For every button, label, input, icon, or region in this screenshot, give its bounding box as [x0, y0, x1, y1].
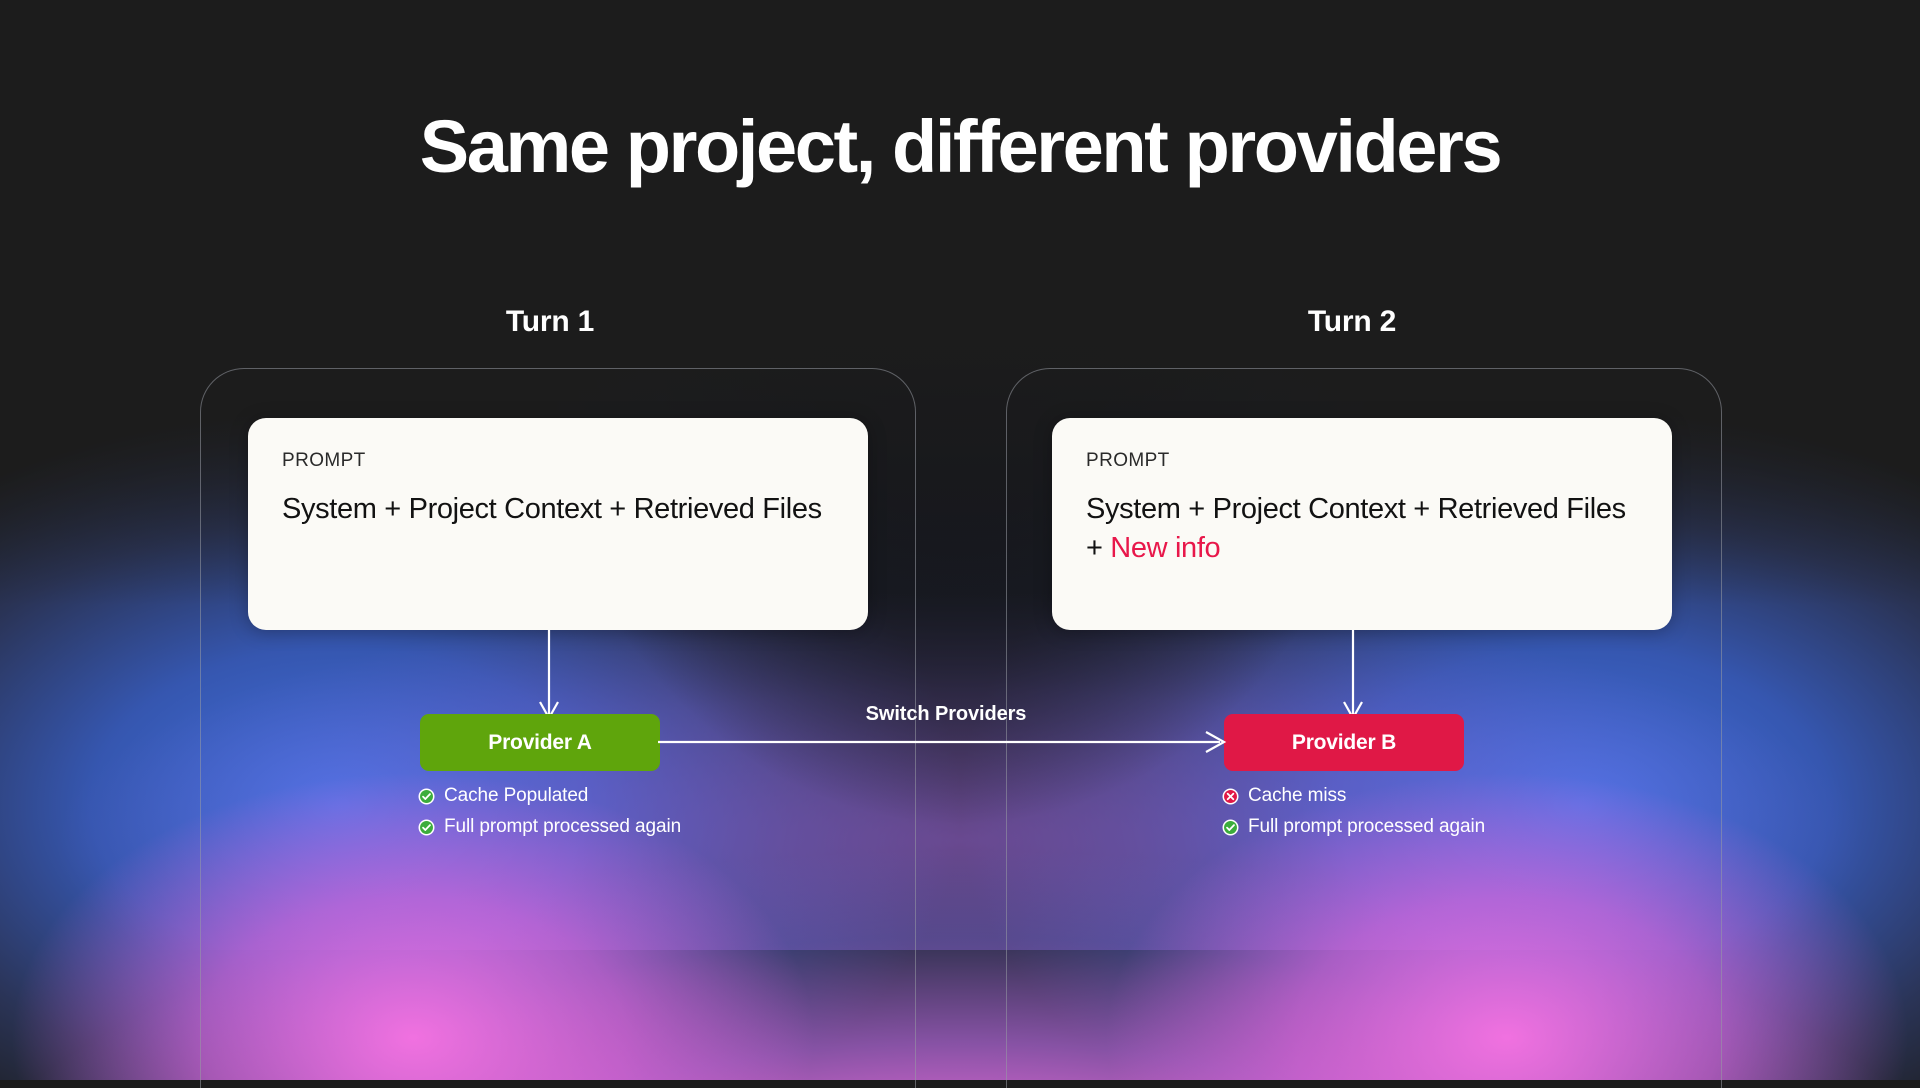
- turn-1-label: Turn 1: [390, 305, 710, 339]
- status-item: Cache Populated: [418, 785, 681, 807]
- status-list-turn-1: Cache Populated Full prompt processed ag…: [418, 785, 681, 847]
- status-label: Cache miss: [1248, 785, 1346, 807]
- turn-2-label: Turn 2: [1192, 305, 1512, 339]
- provider-a-label: Provider A: [488, 731, 591, 755]
- status-item: Full prompt processed again: [1222, 816, 1485, 838]
- check-circle-icon: [418, 788, 435, 805]
- prompt-card-turn-1: PROMPT System + Project Context + Retrie…: [248, 418, 868, 630]
- check-circle-icon: [1222, 819, 1239, 836]
- check-circle-icon: [418, 819, 435, 836]
- switch-providers-arrow-icon: [658, 728, 1228, 756]
- page-title: Same project, different providers: [0, 108, 1920, 186]
- provider-b-label: Provider B: [1292, 731, 1396, 755]
- status-label: Full prompt processed again: [444, 816, 681, 838]
- status-item: Full prompt processed again: [418, 816, 681, 838]
- x-circle-icon: [1222, 788, 1239, 805]
- prompt-highlight: New info: [1110, 532, 1220, 564]
- diagram-stage: Same project, different providers Turn 1…: [0, 0, 1920, 1080]
- switch-providers-label: Switch Providers: [796, 703, 1096, 726]
- down-arrow-icon: [536, 630, 562, 722]
- provider-a-button[interactable]: Provider A: [420, 714, 660, 771]
- prompt-body: System + Project Context + Retrieved Fil…: [1086, 490, 1638, 567]
- provider-b-button[interactable]: Provider B: [1224, 714, 1464, 771]
- prompt-body: System + Project Context + Retrieved Fil…: [282, 490, 834, 529]
- prompt-text: System + Project Context + Retrieved Fil…: [282, 493, 822, 525]
- prompt-kicker: PROMPT: [1086, 450, 1638, 472]
- status-item: Cache miss: [1222, 785, 1485, 807]
- status-label: Full prompt processed again: [1248, 816, 1485, 838]
- prompt-card-turn-2: PROMPT System + Project Context + Retrie…: [1052, 418, 1672, 630]
- status-list-turn-2: Cache miss Full prompt processed again: [1222, 785, 1485, 847]
- prompt-kicker: PROMPT: [282, 450, 834, 472]
- down-arrow-icon: [1340, 630, 1366, 722]
- status-label: Cache Populated: [444, 785, 588, 807]
